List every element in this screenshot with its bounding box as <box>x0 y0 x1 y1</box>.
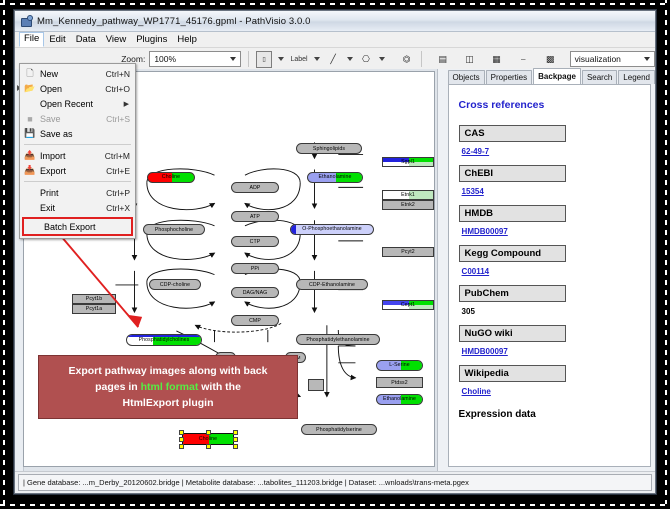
visualization-value: visualization <box>575 54 621 64</box>
menu-item-import[interactable]: 📤 Import Ctrl+M <box>20 148 135 163</box>
label-tool-button[interactable]: Label <box>290 56 307 63</box>
datanode-tool-button[interactable]: ▯ <box>256 51 273 68</box>
distribute-tool-button[interactable]: ▦ <box>489 52 504 67</box>
menu-item-print-label: Print <box>40 188 106 198</box>
node-choline-bottom[interactable]: Choline <box>182 433 234 445</box>
menu-item-print[interactable]: Print Ctrl+P <box>20 185 135 200</box>
submenu-arrow-icon: ▶ <box>124 100 135 108</box>
node-sphingolipids[interactable]: Sphingolipids <box>296 143 362 154</box>
datanode-dropdown-icon[interactable] <box>278 57 284 61</box>
interaction-node-box[interactable] <box>308 379 324 391</box>
node-l-serine[interactable]: L-Serine <box>376 360 423 371</box>
menu-item-new-shortcut: Ctrl+N <box>106 69 135 79</box>
toolbar-separator-2 <box>421 51 422 67</box>
node-sgpl1[interactable]: Sgpl1 <box>382 157 434 167</box>
shape-tool-button[interactable]: ⎔ <box>359 52 374 67</box>
export-icon: 📥 <box>20 165 40 176</box>
node-phosphocholine[interactable]: Phosphocholine <box>143 224 205 235</box>
cross-references-title: Cross references <box>459 99 640 111</box>
node-pcyt1b[interactable]: Pcyt1b <box>72 294 116 304</box>
statusbar: | Gene database: ...m_Derby_20120602.bri… <box>15 471 655 493</box>
node-ethanolamine-2[interactable]: Ethanolamine <box>376 394 423 405</box>
menu-item-open-shortcut: Ctrl+O <box>105 84 135 94</box>
xref-header-cas: CAS <box>459 125 566 142</box>
node-cdp-ethanolamine[interactable]: CDP-Ethanolamine <box>296 279 368 290</box>
node-adp[interactable]: ADP <box>231 182 279 193</box>
label-dropdown-icon[interactable] <box>314 57 320 61</box>
side-panel: Objects Properties Backpage Search Legen… <box>437 69 655 471</box>
node-phosphatidylethanolamine[interactable]: Phosphatidylethanolamine <box>296 334 380 345</box>
menu-item-new[interactable]: 🗋 New Ctrl+N <box>20 66 135 81</box>
import-icon: 📤 <box>20 150 40 161</box>
zoom-value: 100% <box>154 54 176 64</box>
xref-header-hmdb: HMDB <box>459 205 566 222</box>
menu-view[interactable]: View <box>101 33 131 47</box>
resize-handle-e[interactable] <box>233 437 238 442</box>
banner-line-1: Export pathway images along with back <box>69 363 268 379</box>
menu-item-exit[interactable]: Exit Ctrl+X <box>20 200 135 215</box>
node-phosphatidylserine[interactable]: Phosphatidylserine <box>301 424 377 435</box>
node-pcyt2[interactable]: Pcyt2 <box>382 247 434 257</box>
banner-line-2: pages in html format with the <box>95 379 241 395</box>
toolbar-separator <box>248 51 249 67</box>
node-choline-bottom-selection[interactable]: Choline <box>182 433 234 445</box>
node-etnk1[interactable]: Etnk1 <box>382 190 434 200</box>
pathvisio-application-window: Mm_Kennedy_pathway_WP1771_45176.gpml - P… <box>14 10 656 494</box>
menu-item-import-label: Import <box>40 151 105 161</box>
banner-line-2-b: with the <box>198 381 241 393</box>
menu-help[interactable]: Help <box>172 33 202 47</box>
menu-edit[interactable]: Edit <box>44 33 70 47</box>
expression-data-title: Expression data <box>459 409 640 420</box>
menu-file[interactable]: File <box>19 32 44 47</box>
menu-item-import-shortcut: Ctrl+M <box>105 151 135 161</box>
backpage-content: Cross references CAS 62-49-7 ChEBI 15354… <box>448 84 651 467</box>
screenshot-frame: Mm_Kennedy_pathway_WP1771_45176.gpml - P… <box>0 0 670 509</box>
xref-header-kegg-compound: Kegg Compound <box>459 245 566 262</box>
xref-value-cas[interactable]: 62-49-7 <box>462 147 640 156</box>
menu-item-print-shortcut: Ctrl+P <box>106 188 135 198</box>
menu-separator-1 <box>24 144 131 145</box>
chevron-down-icon <box>230 57 236 61</box>
visualization-combobox[interactable]: visualization <box>570 51 655 67</box>
banner-line-2-a: pages in <box>95 381 141 393</box>
node-ptdss2[interactable]: Ptdss2 <box>376 377 423 388</box>
node-atp[interactable]: ATP <box>231 211 279 222</box>
banner-line-3: HtmlExport plugin <box>123 395 214 411</box>
menu-item-open-recent-label: Open Recent <box>40 99 124 109</box>
xref-header-wikipedia: Wikipedia <box>459 365 566 382</box>
node-cmp[interactable]: CMP <box>231 315 279 326</box>
menu-item-open-recent[interactable]: Open Recent ▶ <box>20 96 135 111</box>
menu-item-batch-export[interactable]: Batch Export <box>22 217 133 236</box>
folder-open-icon: 📂 <box>20 83 40 94</box>
resize-handle-sw[interactable] <box>179 444 184 449</box>
tab-properties[interactable]: Properties <box>486 70 532 84</box>
node-dag-nag[interactable]: DAG/NAG <box>231 287 279 298</box>
xref-value-kegg-compound[interactable]: C00114 <box>462 267 640 276</box>
zoom-combobox[interactable]: 100% <box>149 51 240 67</box>
chevron-down-icon-2 <box>644 57 650 61</box>
node-phosphatidylcholines[interactable]: Phosphatidylcholines <box>126 334 202 346</box>
node-choline-top[interactable]: Choline <box>147 172 195 183</box>
xref-value-pubchem: 305 <box>462 307 640 316</box>
tab-search[interactable]: Search <box>582 70 617 84</box>
new-file-icon: 🗋 <box>20 66 40 82</box>
menu-item-export-label: Export <box>40 166 106 176</box>
node-ethanolamine[interactable]: Ethanolamine <box>307 172 363 183</box>
xref-value-nugo-wiki[interactable]: HMDB00097 <box>462 347 640 356</box>
side-panel-tabstrip: Objects Properties Backpage Search Legen… <box>438 69 655 84</box>
node-cept1[interactable]: Cept1 <box>382 300 434 310</box>
tab-objects[interactable]: Objects <box>448 70 485 84</box>
group-tool-button[interactable]: ▩ <box>543 52 558 67</box>
node-ppi[interactable]: PPi <box>231 263 279 274</box>
resize-handle-ne[interactable] <box>233 430 238 435</box>
node-pcyt1a[interactable]: Pcyt1a <box>72 304 116 314</box>
menu-item-open[interactable]: 📂 Open Ctrl+O <box>20 81 135 96</box>
menu-plugins[interactable]: Plugins <box>131 33 172 47</box>
banner-html-format-highlight: html format <box>141 381 199 393</box>
xref-header-nugo-wiki: NuGO wiki <box>459 325 566 342</box>
save-as-icon: 💾 <box>20 128 40 139</box>
xref-value-chebi[interactable]: 15354 <box>462 187 640 196</box>
stack-tool-button[interactable]: ◫ <box>462 52 477 67</box>
line-dropdown-icon[interactable] <box>347 57 353 61</box>
menu-item-exit-shortcut: Ctrl+X <box>106 203 135 213</box>
xref-value-hmdb[interactable]: HMDB00097 <box>462 227 640 236</box>
menu-item-export-shortcut: Ctrl+E <box>106 166 135 176</box>
node-cdp-choline[interactable]: CDP-choline <box>149 279 201 290</box>
tab-backpage[interactable]: Backpage <box>533 68 581 84</box>
annotation-banner: Export pathway images along with back pa… <box>38 355 298 419</box>
menu-item-save[interactable]: ■ Save Ctrl+S <box>20 111 135 126</box>
menu-item-exit-label: Exit <box>40 203 106 213</box>
node-ctp[interactable]: CTP <box>231 236 279 247</box>
menu-item-new-label: New <box>40 69 106 79</box>
menu-item-export[interactable]: 📥 Export Ctrl+E <box>20 163 135 178</box>
node-etnk2[interactable]: Etnk2 <box>382 200 434 210</box>
node-o-phosphoethanolamine[interactable]: O-Phosphoethanolamine <box>290 224 374 235</box>
file-dropdown-menu[interactable]: 🗋 New Ctrl+N 📂 Open Ctrl+O Open Recent ▶… <box>19 63 136 239</box>
menu-item-save-shortcut: Ctrl+S <box>106 114 135 124</box>
menubar: File Edit Data View Plugins Help <box>15 32 655 48</box>
menu-data[interactable]: Data <box>71 33 101 47</box>
resize-handle-se[interactable] <box>233 444 238 449</box>
menu-item-save-label: Save <box>40 114 106 124</box>
anchor-tool-button[interactable]: ⏣ <box>399 52 414 67</box>
shape-dropdown-icon[interactable] <box>379 57 385 61</box>
align-tool-button[interactable]: ▤ <box>435 52 450 67</box>
xref-header-chebi: ChEBI <box>459 165 566 182</box>
pathvisio-icon <box>20 15 32 27</box>
menu-item-open-label: Open <box>40 84 105 94</box>
menu-item-batch-export-label: Batch Export <box>44 222 131 232</box>
tab-legend[interactable]: Legend <box>618 70 655 84</box>
save-icon: ■ <box>20 114 40 124</box>
xref-header-pubchem: PubChem <box>459 285 566 302</box>
line-tool-button[interactable]: ╱ <box>326 52 341 67</box>
order-tool-button[interactable]: ⎯ <box>516 52 531 67</box>
xref-value-wikipedia[interactable]: Choline <box>462 387 640 396</box>
status-text: | Gene database: ...m_Derby_20120602.bri… <box>18 474 652 491</box>
menu-item-save-as-label: Save as <box>40 129 130 139</box>
resize-handle-s[interactable] <box>206 444 211 449</box>
menu-item-save-as[interactable]: 💾 Save as <box>20 126 135 141</box>
window-titlebar: Mm_Kennedy_pathway_WP1771_45176.gpml - P… <box>15 11 655 32</box>
menu-separator-2 <box>24 181 131 182</box>
window-title: Mm_Kennedy_pathway_WP1771_45176.gpml - P… <box>37 16 311 27</box>
